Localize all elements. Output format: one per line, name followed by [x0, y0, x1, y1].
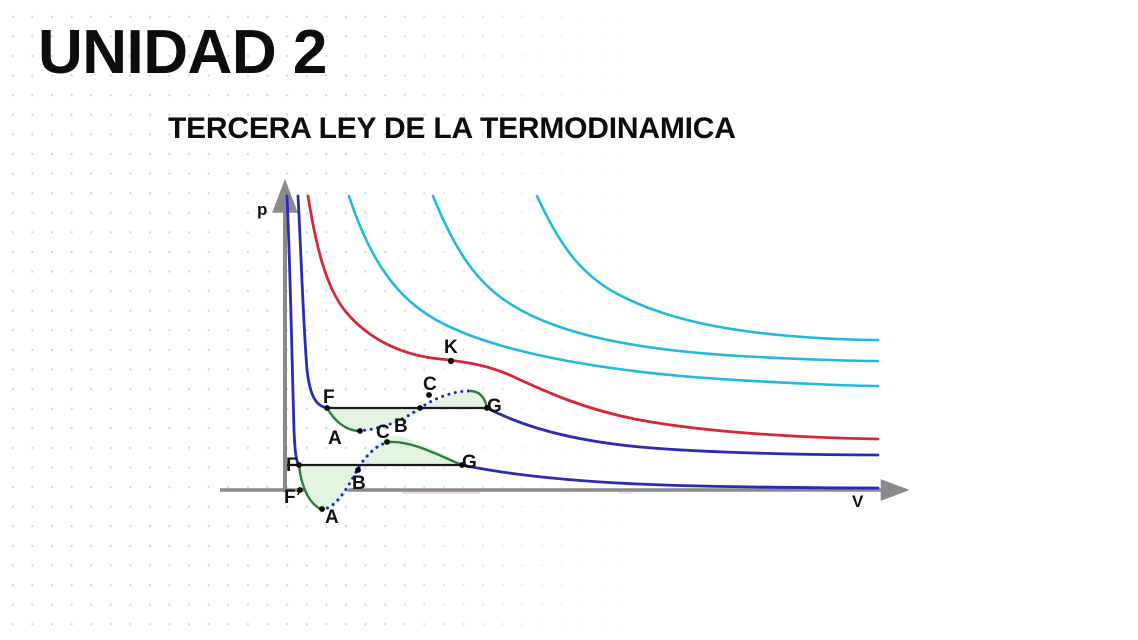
upper-point-G-label: G — [487, 396, 502, 417]
critical-point-marker — [448, 358, 454, 364]
lower-point-Fprime-label: F’ — [284, 487, 301, 508]
upper-point-B-marker — [417, 405, 423, 411]
supercritical-isotherm-3 — [537, 196, 878, 340]
critical-point-label: K — [444, 337, 458, 358]
pv-isotherm-diagram: p V K — [0, 0, 1138, 640]
upper-point-F-label: F — [323, 387, 335, 408]
critical-isotherm — [308, 196, 878, 439]
lower-point-C-label: C — [376, 422, 390, 443]
upper-point-A-marker — [357, 428, 363, 434]
lower-point-A-label: A — [325, 507, 339, 528]
supercritical-isotherm-2 — [433, 196, 878, 361]
subcritical-isotherm-upper-group: F A B C G — [298, 196, 878, 455]
lower-point-G-label: G — [462, 452, 477, 473]
upper-point-C-label: C — [423, 374, 437, 395]
critical-isotherm-group: K — [308, 196, 878, 439]
x-axis-label: V — [852, 492, 864, 511]
upper-point-A-label: A — [328, 428, 342, 449]
lower-point-B-label: B — [352, 473, 366, 494]
lower-liquid-branch — [287, 196, 299, 465]
lower-vapour-branch — [462, 465, 878, 488]
lower-point-F-label: F — [286, 455, 298, 476]
y-axis-label: p — [257, 200, 267, 219]
axes-group: p V — [220, 196, 895, 511]
upper-vapour-branch — [487, 408, 878, 455]
upper-point-B-label: B — [394, 416, 408, 437]
